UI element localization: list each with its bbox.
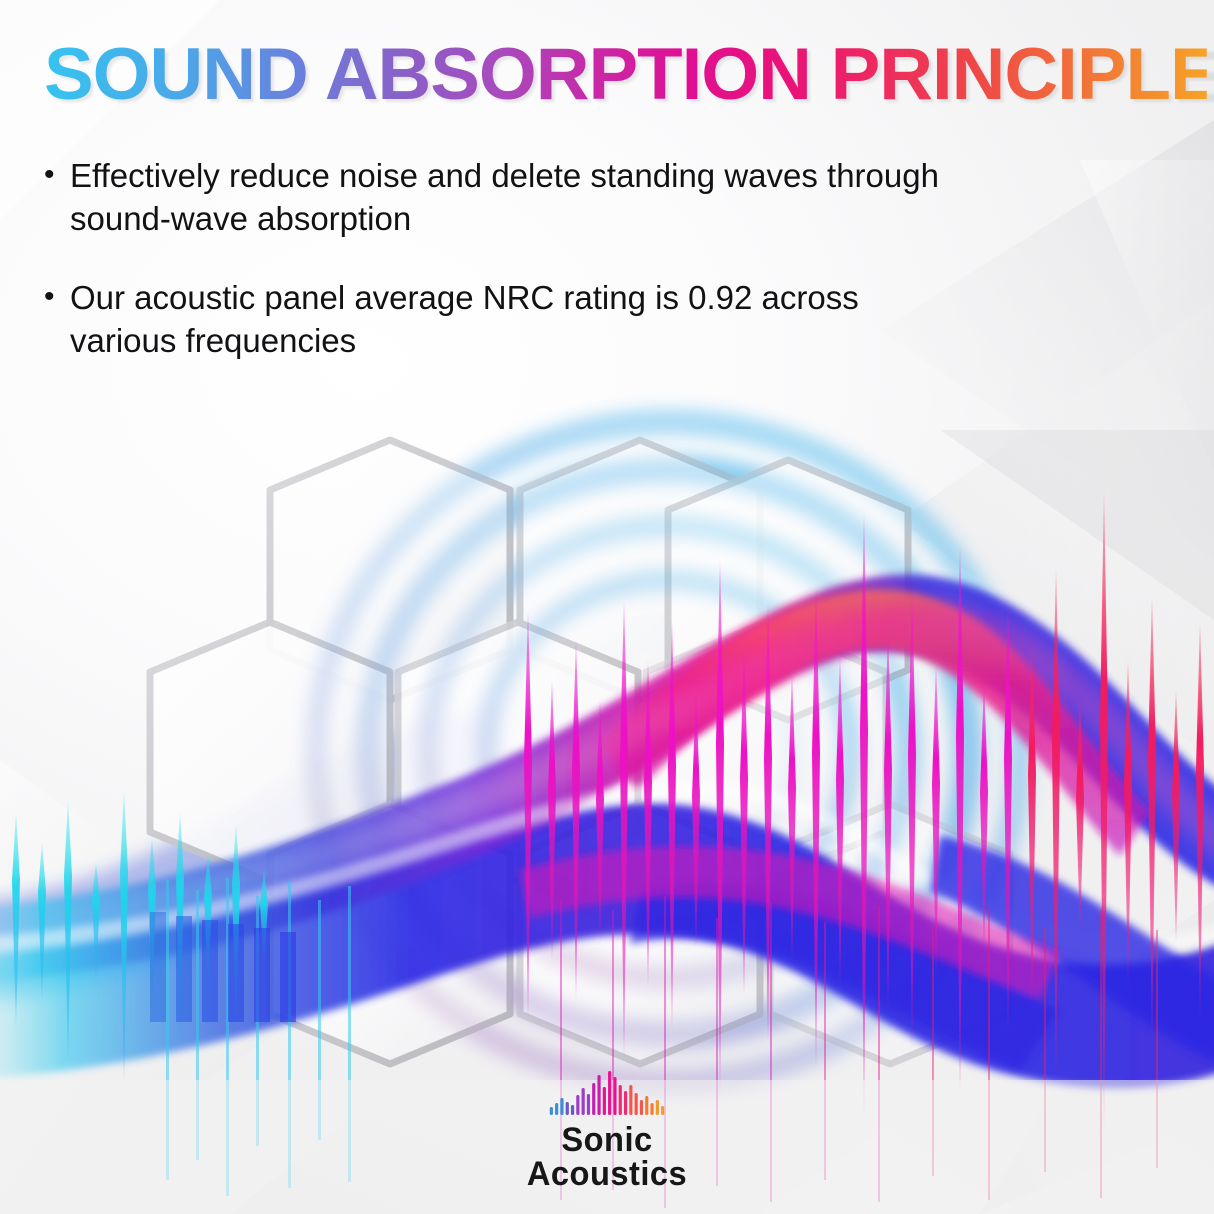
logo-line-1: Sonic — [24, 1123, 1189, 1158]
list-item: • Effectively reduce noise and delete st… — [44, 155, 964, 241]
page-title: SOUND ABSORPTION PRINCIPLE — [44, 38, 1207, 111]
list-item: • Our acoustic panel average NRC rating … — [44, 277, 964, 363]
bullet-text: Effectively reduce noise and delete stan… — [70, 155, 964, 241]
bullet-marker-icon: • — [44, 155, 70, 194]
equalizer-icon — [547, 1069, 667, 1117]
poster-canvas: SOUND ABSORPTION PRINCIPLE SOUND ABSORPT… — [0, 0, 1214, 1214]
logo-line-2: Acoustics — [24, 1157, 1189, 1192]
brand-logo: Sonic Acoustics — [0, 1069, 1214, 1192]
bullet-marker-icon: • — [44, 277, 70, 316]
feature-bullet-list: • Effectively reduce noise and delete st… — [44, 155, 964, 399]
bullet-text: Our acoustic panel average NRC rating is… — [70, 277, 964, 363]
